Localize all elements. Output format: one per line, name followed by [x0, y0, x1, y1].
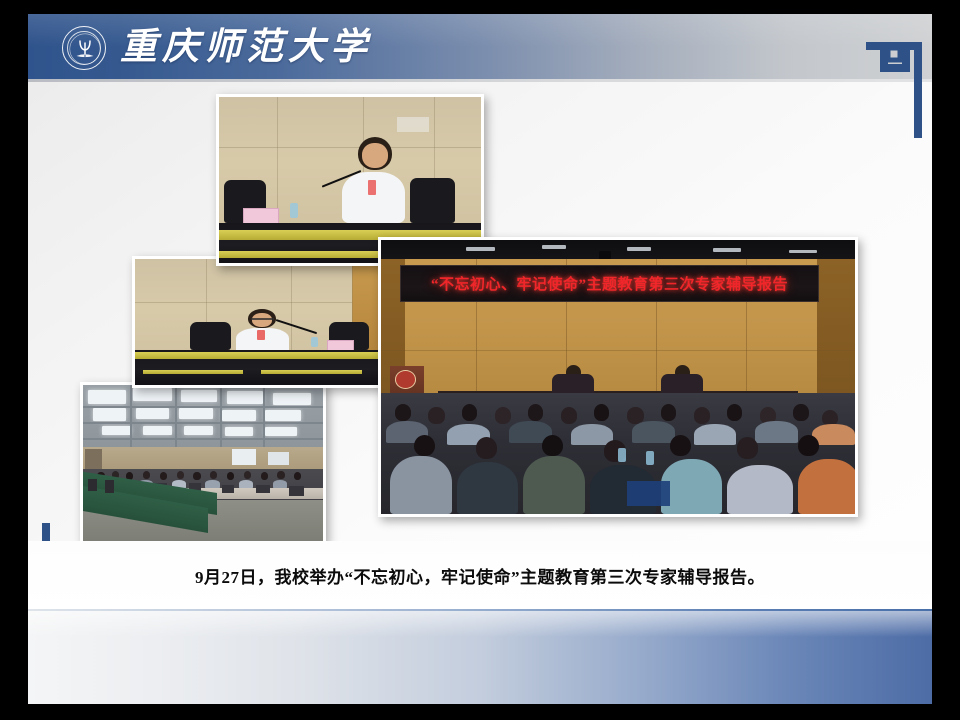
slide-header: 重庆师范大学 — [28, 14, 932, 79]
eyeglasses — [251, 318, 274, 320]
photo-content — [135, 259, 387, 385]
main-venue-photo: “不忘初心、牢记使命”主题教育第三次专家辅导报告 — [378, 237, 858, 517]
lecture-hall-audience-photo — [80, 382, 326, 544]
led-banner: “不忘初心、牢记使命”主题教育第三次专家辅导报告 — [400, 265, 819, 303]
seal-emblem-icon — [63, 27, 107, 71]
photo-content — [83, 385, 323, 541]
host-at-head-table-photo — [132, 256, 390, 388]
wall-notice — [397, 117, 428, 132]
top-right-corner-ornament-icon — [838, 24, 926, 147]
caption-band: 9月27日，我校举办“不忘初心，牢记使命”主题教育第三次专家辅导报告。 — [28, 541, 932, 609]
presentation-slide: 重庆师范大学 — [28, 14, 932, 704]
university-name: 重庆师范大学 — [120, 20, 372, 76]
desk-placard — [627, 481, 670, 506]
podium-emblem-icon — [395, 370, 416, 388]
footer-sheen — [28, 611, 932, 637]
photo-content: “不忘初心、牢记使命”主题教育第三次专家辅导报告 — [381, 240, 855, 514]
slide-footer — [28, 611, 932, 704]
slide-body: “不忘初心、牢记使命”主题教育第三次专家辅导报告 — [28, 82, 932, 704]
slide-caption: 9月27日，我校举办“不忘初心，牢记使命”主题教育第三次专家辅导报告。 — [195, 563, 765, 588]
university-seal-icon — [62, 26, 106, 70]
led-banner-text: “不忘初心、牢记使命”主题教育第三次专家辅导报告 — [431, 273, 788, 294]
